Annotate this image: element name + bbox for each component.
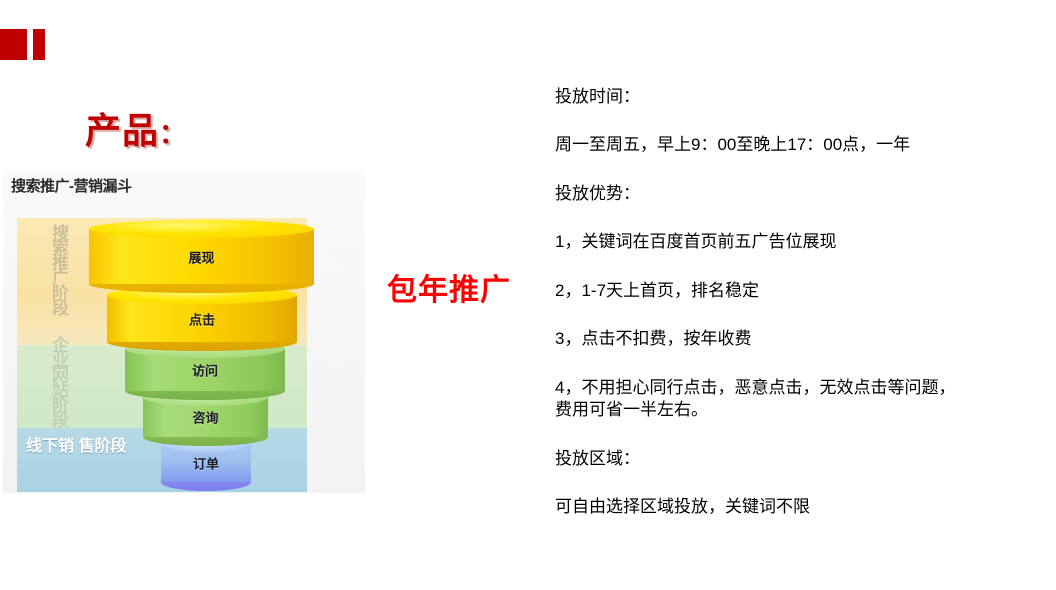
page-title-colon: ：	[159, 119, 187, 149]
funnel-stage-click: 点击	[107, 286, 297, 351]
funnel-stage-label: 咨询	[143, 408, 268, 427]
page-title-text: 产品	[85, 110, 159, 151]
funnel-stage-label: 订单	[161, 453, 251, 472]
funnel-stage-impression: 展现	[89, 220, 314, 293]
red-marker-bar	[33, 29, 45, 60]
detail-line: 周一至周五，早上9：00至晚上17：00点，一年	[555, 134, 1035, 156]
detail-line: 投放时间：	[555, 86, 1035, 108]
campaign-details: 投放时间： 周一至周五，早上9：00至晚上17：00点，一年 投放优势： 1，关…	[555, 86, 1035, 518]
detail-line: 2，1-7天上首页，排名稳定	[555, 280, 1035, 302]
cylinder-top-cap	[89, 220, 314, 238]
funnel-stage-label: 点击	[107, 309, 297, 328]
detail-line: 投放区域：	[555, 448, 1035, 470]
detail-line: 1，关键词在百度首页前五广告位展现	[555, 231, 1035, 253]
detail-line: 可自由选择区域投放，关键词不限	[555, 496, 1035, 518]
funnel-zone-label-search: 搜索推广阶段	[50, 224, 67, 314]
detail-line: 投放优势：	[555, 183, 1035, 205]
funnel-title: 搜索推广-营销漏斗	[11, 175, 132, 196]
red-marker-block	[0, 29, 27, 60]
detail-line: 4，不用担心同行点击，恶意点击，无效点击等问题， 费用可省一半左右。	[555, 377, 1035, 422]
detail-line: 3，点击不扣费，按年收费	[555, 328, 1035, 350]
annual-promo-label: 包年推广	[387, 265, 511, 309]
funnel-stage-label: 展现	[89, 247, 314, 266]
red-accent-marker	[0, 29, 48, 60]
page-title: 产品：	[85, 102, 187, 154]
funnel-zone-label-offline: 线下销 售阶段	[26, 438, 126, 456]
funnel-stage-label: 访问	[125, 361, 285, 380]
funnel-zone-label-website: 企业网站阶段	[50, 336, 67, 426]
marketing-funnel-image: 搜索推广-营销漏斗 搜索推广阶段 企业网站阶段 线下销 售阶段 展现 点击 访问…	[3, 170, 365, 493]
